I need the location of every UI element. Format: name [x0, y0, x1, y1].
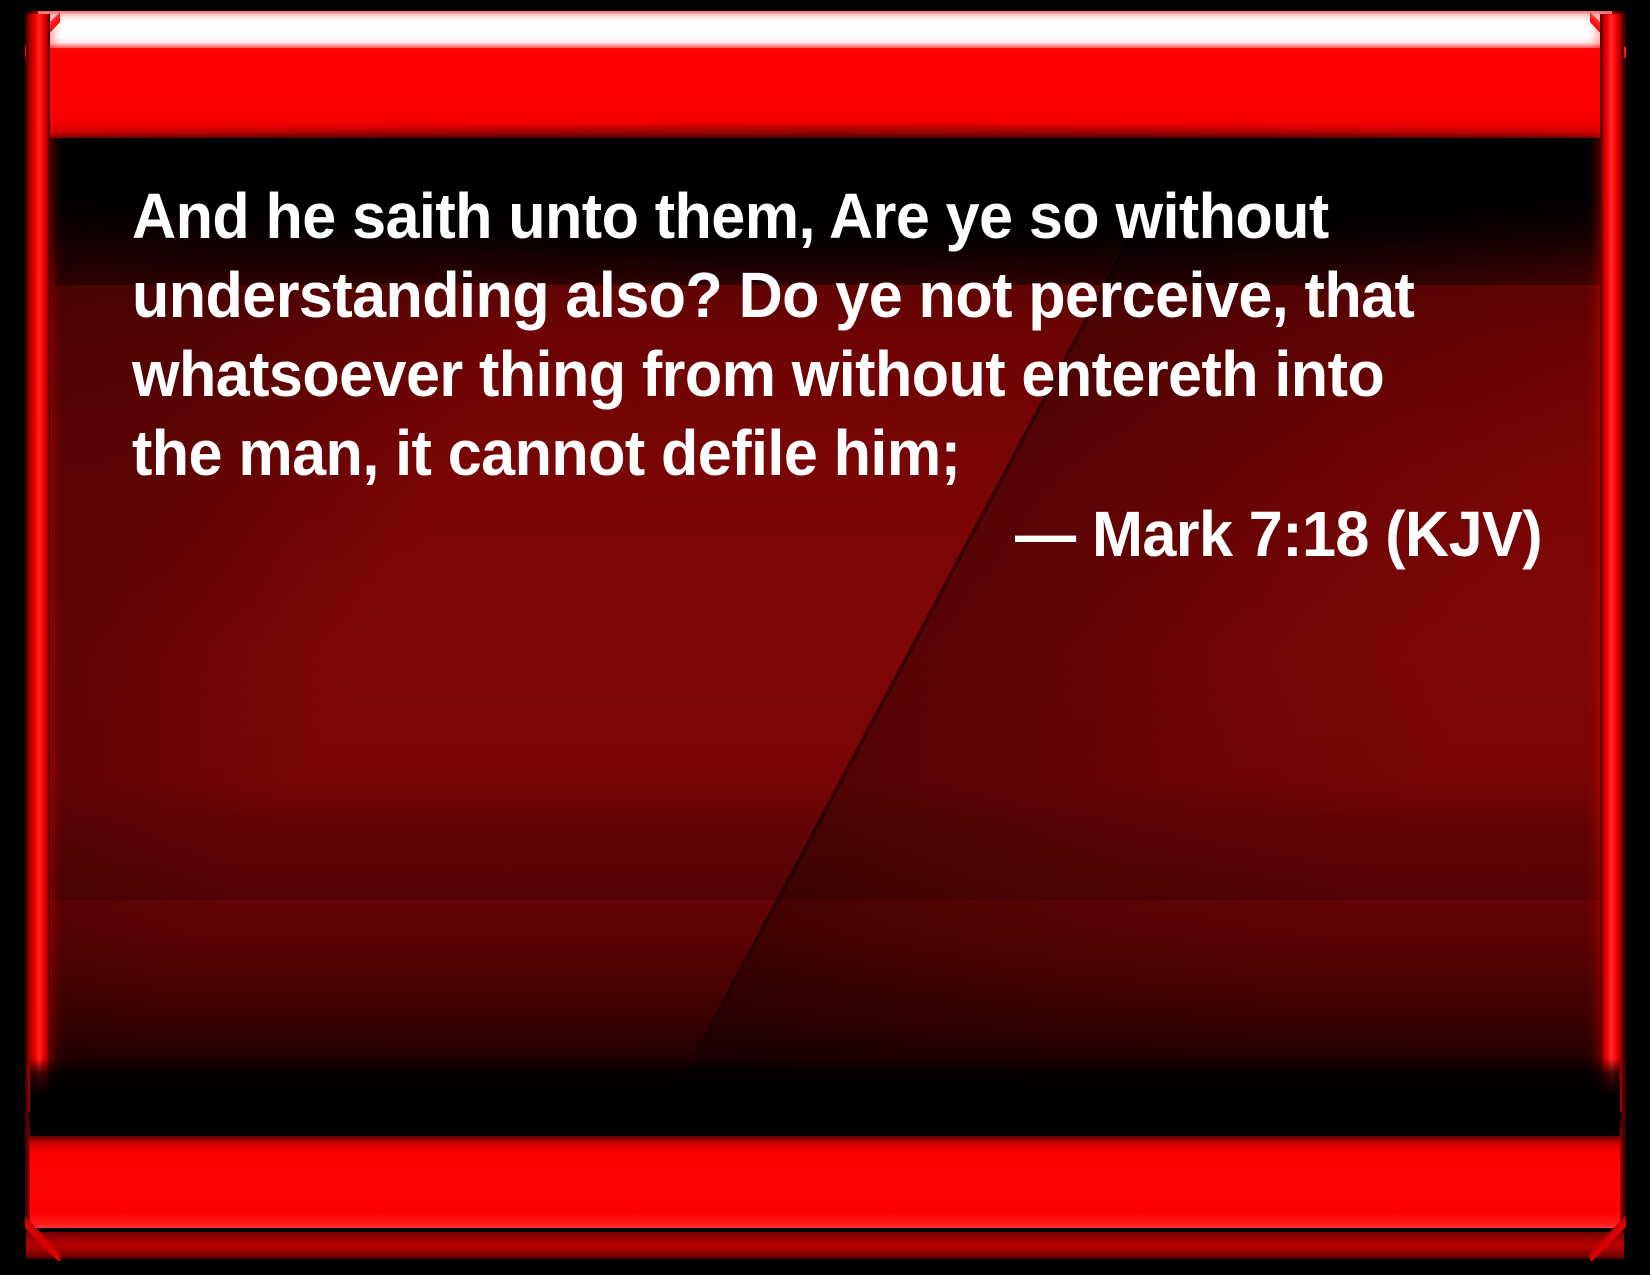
verse-line-1: And he saith unto them, Are ye so withou…	[132, 177, 1479, 256]
verse-line-2: understanding also? Do ye not perceive, …	[132, 256, 1479, 335]
frame-top-highlight-strip	[38, 11, 1612, 48]
outer-border-right	[1626, 0, 1650, 1275]
verse-citation: — Mark 7:18 (KJV)	[195, 495, 1542, 574]
slide-content-panel: And he saith unto them, Are ye so withou…	[48, 135, 1604, 1130]
outer-border-left	[0, 0, 25, 1275]
verse-line-3: whatsoever thing from without entereth i…	[132, 335, 1479, 414]
verse-slide: And he saith unto them, Are ye so withou…	[0, 0, 1650, 1275]
background-shelf-band	[48, 780, 1604, 900]
verse-line-4: the man, it cannot defile him;	[132, 414, 1479, 493]
frame-right-rail	[1600, 14, 1624, 1226]
frame-top-red-band	[30, 48, 1620, 138]
outer-border-bottom	[0, 1261, 1650, 1275]
frame-left-rail	[26, 14, 50, 1226]
frame-bottom-red-band	[30, 1136, 1620, 1228]
outer-border-top	[0, 0, 1650, 11]
verse-text-block: And he saith unto them, Are ye so withou…	[132, 177, 1542, 574]
frame-bottom-dark-red-band	[26, 1232, 1624, 1259]
